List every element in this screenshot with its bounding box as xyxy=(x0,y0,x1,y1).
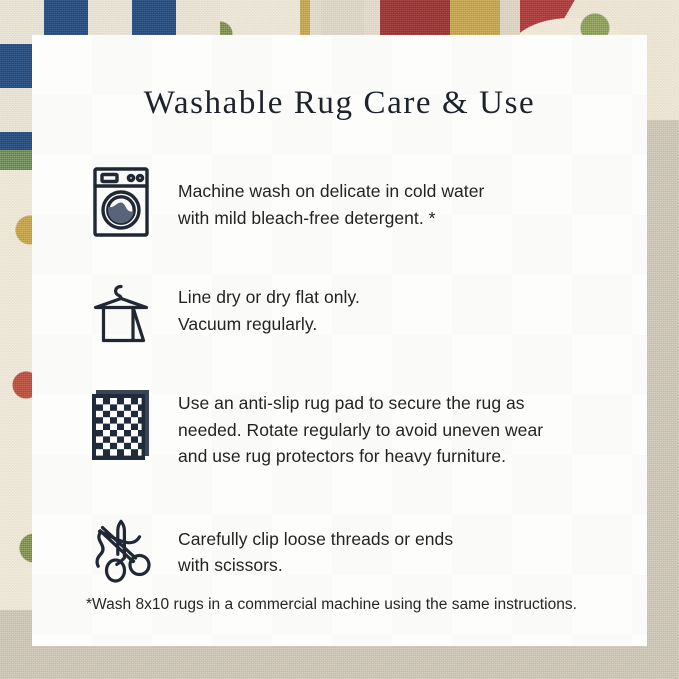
list-item: Machine wash on delicate in cold water w… xyxy=(32,164,647,238)
page-title: Washable Rug Care & Use xyxy=(32,35,647,122)
instruction-text: Use an anti-slip rug pad to secure the r… xyxy=(156,386,543,470)
scissors-icon xyxy=(86,514,156,584)
care-instructions-card: Washable Rug Care & Use Mac xyxy=(32,35,647,646)
checkered-rug-pad-icon xyxy=(86,386,156,464)
instruction-text: Carefully clip loose threads or ends wit… xyxy=(156,514,453,579)
list-item: Carefully clip loose threads or ends wit… xyxy=(32,514,647,584)
washing-machine-icon xyxy=(86,164,156,238)
list-item: Line dry or dry flat only. Vacuum regula… xyxy=(32,276,647,344)
list-item: Use an anti-slip rug pad to secure the r… xyxy=(32,386,647,470)
footnote-text: *Wash 8x10 rugs in a commercial machine … xyxy=(86,596,577,614)
rug-photo-frame: Washable Rug Care & Use Mac xyxy=(0,0,679,679)
instruction-list: Machine wash on delicate in cold water w… xyxy=(32,164,647,584)
instruction-text: Line dry or dry flat only. Vacuum regula… xyxy=(156,276,360,337)
clothes-hanger-icon xyxy=(86,276,156,344)
instruction-text: Machine wash on delicate in cold water w… xyxy=(156,164,484,231)
